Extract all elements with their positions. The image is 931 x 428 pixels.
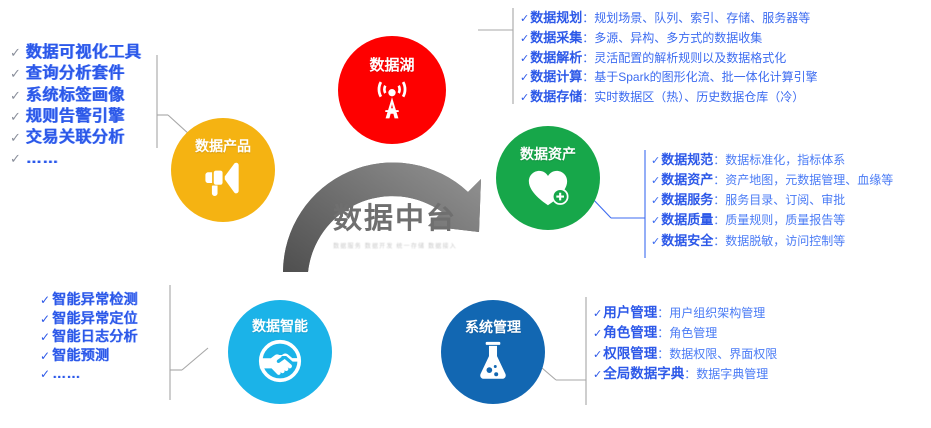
- list-item-term: 用户管理: [603, 303, 657, 323]
- list-item-desc: ：数据字典管理: [684, 365, 768, 383]
- list-item-term: 智能日志分析: [52, 327, 138, 345]
- list-item: ✓ 系统标签画像: [10, 85, 141, 106]
- list-item: ✓ 权限管理 ：数据权限、界面权限: [593, 344, 777, 364]
- check-icon: ✓: [40, 293, 50, 309]
- check-icon: ✓: [520, 31, 529, 48]
- list-item-term: 规则告警引擎: [26, 106, 125, 127]
- list-item-term: 全局数据字典: [603, 364, 684, 384]
- list-item-term: 数据可视化工具: [26, 42, 142, 63]
- handshake-icon: [258, 339, 302, 388]
- check-icon: ✓: [40, 349, 50, 365]
- list-item-term: 查询分析套件: [26, 63, 125, 84]
- check-icon: ✓: [10, 150, 21, 167]
- list-item: ✓ 数据存储 ：实时数据区（热）、历史数据仓库（冷）: [520, 87, 818, 107]
- list-item: ✓ 数据质量 ：质量规则，质量报告等: [651, 210, 893, 230]
- list-item-term: 数据规划: [530, 8, 582, 28]
- check-icon: ✓: [10, 129, 21, 146]
- list-item: ✓ 数据规划 ：规划场景、队列、索引、存储、服务器等: [520, 8, 818, 28]
- list-item-desc: ：规划场景、队列、索引、存储、服务器等: [582, 9, 810, 27]
- list-item-term: 智能异常定位: [52, 309, 138, 327]
- list-item: ✓ 交易关联分析: [10, 127, 141, 148]
- block-data-lake-features: ✓ 数据规划 ：规划场景、队列、索引、存储、服务器等 ✓ 数据采集 ：多源、异构…: [520, 8, 818, 107]
- check-icon: ✓: [593, 306, 602, 323]
- list-item-desc: ：资产地图，元数据管理、血缘等: [713, 171, 893, 190]
- list-item-term: 交易关联分析: [26, 127, 125, 148]
- list-item: ✓ 智能异常定位: [40, 309, 138, 328]
- list-item-desc: ：质量规则，质量报告等: [713, 211, 845, 230]
- list-item-term: 数据计算: [530, 67, 582, 87]
- check-icon: ✓: [651, 153, 660, 170]
- list-item-desc: ：实时数据区（热）、历史数据仓库（冷）: [582, 88, 804, 106]
- node-data-asset[interactable]: 数据资产: [496, 126, 600, 230]
- list-item-term: 数据采集: [530, 28, 582, 48]
- page-title: 数据中台: [300, 204, 490, 236]
- check-icon: ✓: [10, 87, 21, 104]
- list-item: ✓ 用户管理 ：用户组织架构管理: [593, 303, 777, 323]
- list-item-term: ……: [52, 364, 81, 382]
- list-item: ✓ 数据解析 ：灵活配置的解析规则以及数据格式化: [520, 48, 818, 68]
- check-icon: ✓: [593, 367, 602, 384]
- list-item-term: 数据资产: [661, 170, 713, 190]
- block-system-management-features: ✓ 用户管理 ：用户组织架构管理 ✓ 角色管理 ：角色管理 ✓ 权限管理 ：数据…: [593, 303, 777, 384]
- list-item: ✓ 智能异常检测: [40, 290, 138, 309]
- list-item-desc: ：用户组织架构管理: [657, 304, 765, 322]
- list-item: ✓ 数据可视化工具: [10, 42, 141, 63]
- list-item-desc: ：数据脱敏，访问控制等: [713, 232, 845, 251]
- check-icon: ✓: [10, 44, 21, 61]
- list-item: ✓ ……: [10, 148, 141, 169]
- list-item: ✓ 数据服务 ：服务目录、订阅、审批: [651, 190, 893, 210]
- node-data-lake[interactable]: 数据湖: [338, 36, 446, 144]
- center-label: 数据中台 数据服务 数据开发 统一存储 数据接入: [300, 204, 490, 250]
- check-icon: ✓: [593, 347, 602, 364]
- flask-icon: [474, 340, 512, 387]
- check-icon: ✓: [40, 312, 50, 328]
- check-icon: ✓: [10, 65, 21, 82]
- check-icon: ✓: [520, 51, 529, 68]
- check-icon: ✓: [651, 173, 660, 190]
- node-data-intelligence-label: 数据智能: [252, 316, 308, 336]
- list-item-term: 智能预测: [52, 346, 109, 364]
- list-item-desc: ：灵活配置的解析规则以及数据格式化: [582, 49, 786, 67]
- node-system-management[interactable]: 系统管理: [441, 300, 545, 404]
- list-item-term: 智能异常检测: [52, 290, 138, 308]
- list-item-desc: ：服务目录、订阅、审批: [713, 191, 845, 210]
- list-item-term: 数据存储: [530, 87, 582, 107]
- list-item-term: 权限管理: [603, 344, 657, 364]
- list-item-desc: ：角色管理: [657, 324, 717, 342]
- check-icon: ✓: [40, 367, 50, 383]
- block-data-product-features: ✓ 数据可视化工具 ✓ 查询分析套件 ✓ 系统标签画像 ✓ 规则告警引擎 ✓ 交…: [10, 42, 141, 170]
- list-item-term: 角色管理: [603, 323, 657, 343]
- megaphone-icon: [201, 159, 245, 204]
- list-item: ✓ 数据采集 ：多源、异构、多方式的数据收集: [520, 28, 818, 48]
- list-item-term: ……: [26, 148, 59, 169]
- list-item: ✓ 查询分析套件: [10, 63, 141, 84]
- diagram-canvas: 数据中台 数据服务 数据开发 统一存储 数据接入 数据湖 数据资产 系统管理: [0, 0, 931, 428]
- list-item-desc: ：数据权限、界面权限: [657, 345, 777, 363]
- list-item: ✓ 规则告警引擎: [10, 106, 141, 127]
- check-icon: ✓: [651, 213, 660, 230]
- list-item: ✓ 数据安全 ：数据脱敏，访问控制等: [651, 231, 893, 251]
- list-item: ✓ 全局数据字典 ：数据字典管理: [593, 364, 777, 384]
- list-item: ✓ ……: [40, 364, 138, 383]
- check-icon: ✓: [651, 234, 660, 251]
- list-item-term: 数据解析: [530, 48, 582, 68]
- connector-intel-leader: [182, 348, 208, 370]
- list-item-term: 数据规范: [661, 150, 713, 170]
- check-icon: ✓: [40, 330, 50, 346]
- heart-plus-icon: [525, 167, 571, 212]
- list-item: ✓ 数据计算 ：基于Spark的图形化流、批一体化计算引擎: [520, 67, 818, 87]
- block-data-asset-features: ✓ 数据规范 ：数据标准化，指标体系 ✓ 数据资产 ：资产地图，元数据管理、血缘…: [651, 150, 893, 251]
- check-icon: ✓: [593, 326, 602, 343]
- list-item-desc: ：数据标准化，指标体系: [713, 151, 845, 170]
- list-item-term: 数据安全: [661, 231, 713, 251]
- check-icon: ✓: [520, 90, 529, 107]
- broadcast-tower-icon: [370, 78, 414, 127]
- check-icon: ✓: [10, 108, 21, 125]
- node-data-lake-label: 数据湖: [369, 54, 414, 75]
- list-item-term: 数据质量: [661, 210, 713, 230]
- node-data-product-label: 数据产品: [195, 136, 251, 156]
- check-icon: ✓: [651, 193, 660, 210]
- node-data-intelligence[interactable]: 数据智能: [228, 300, 332, 404]
- list-item: ✓ 数据资产 ：资产地图，元数据管理、血缘等: [651, 170, 893, 190]
- node-system-management-label: 系统管理: [465, 317, 521, 337]
- node-data-asset-label: 数据资产: [520, 144, 576, 164]
- list-item-desc: ：多源、异构、多方式的数据收集: [582, 29, 762, 47]
- block-data-intelligence-features: ✓ 智能异常检测 ✓ 智能异常定位 ✓ 智能日志分析 ✓ 智能预测 ✓ ……: [40, 290, 138, 383]
- list-item: ✓ 角色管理 ：角色管理: [593, 323, 777, 343]
- list-item-term: 数据服务: [661, 190, 713, 210]
- list-item-term: 系统标签画像: [26, 85, 125, 106]
- list-item: ✓ 智能预测: [40, 346, 138, 365]
- center-subtitle: 数据服务 数据开发 统一存储 数据接入: [300, 241, 490, 250]
- check-icon: ✓: [520, 11, 529, 28]
- list-item-desc: ：基于Spark的图形化流、批一体化计算引擎: [582, 68, 817, 86]
- check-icon: ✓: [520, 70, 529, 87]
- node-data-product[interactable]: 数据产品: [171, 118, 275, 222]
- list-item: ✓ 智能日志分析: [40, 327, 138, 346]
- list-item: ✓ 数据规范 ：数据标准化，指标体系: [651, 150, 893, 170]
